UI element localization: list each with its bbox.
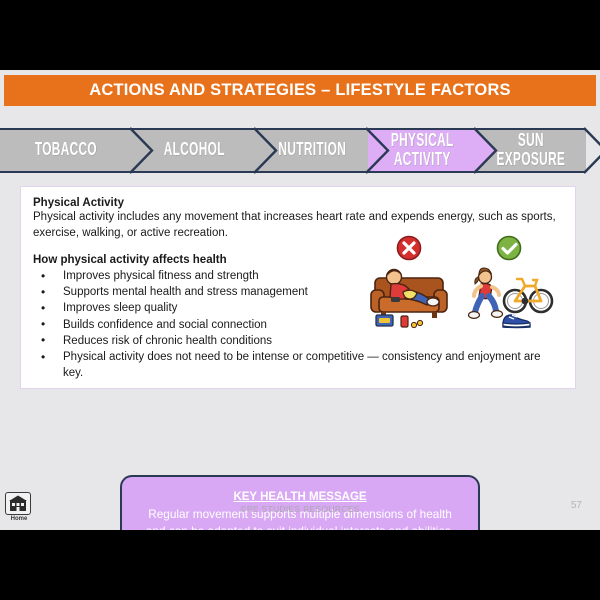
letterbox-bottom [0,530,600,600]
key-health-message-box: KEY HEALTH MESSAGE Regular movement supp… [120,475,480,530]
green-check-badge [498,237,521,260]
chevron-tip-icon [584,128,600,173]
key-message-line: and can be adapted to suit individual in… [146,523,454,531]
slide-title-bar: ACTIONS AND STRATEGIES – LIFESTYLE FACTO… [4,75,596,106]
page-title: ACTIONS AND STRATEGIES – LIFESTYLE FACTO… [89,81,511,100]
person-on-couch-illustration [361,235,457,331]
chevron-label-tobacco: TOBACCO [35,141,97,160]
lead-heading: Physical Activity [33,197,563,209]
slide-canvas: ACTIONS AND STRATEGIES – LIFESTYLE FACTO… [0,70,600,530]
bicycle-figure [504,279,552,312]
page-number: 57 [571,500,582,511]
home-label: Home [5,516,33,522]
running-shoes [503,314,530,328]
home-icon [5,492,31,515]
chevron-tip-icon [474,128,498,173]
runner-bicycle-shoes-illustration [461,235,557,331]
footer-copyright: ©PE STUDIES RESOURCES [0,504,600,514]
runner-figure [469,268,503,318]
chevron-label-sun-exposure: SUN EXPOSURE [497,131,566,169]
lifestyle-factor-chevron-nav: TOBACCO ALCOHOL NUTRITION PHYSICAL ACTIV… [0,128,600,173]
chevron-label-physical-activity: PHYSICAL ACTIVITY [391,131,454,169]
letterbox-top [0,0,600,70]
key-message-title: KEY HEALTH MESSAGE [233,491,366,503]
chevron-tip-icon [366,128,390,173]
list-item: Reduces risk of chronic health condition… [33,333,563,349]
red-cross-badge [398,237,421,260]
home-button[interactable]: Home [5,492,33,524]
chevron-label-alcohol: ALCOHOL [163,141,224,160]
illustration-pair [361,235,561,331]
list-item: Physical activity does not need to be in… [33,349,563,381]
chevron-tip-icon [254,128,278,173]
chevron-tip-icon [130,128,154,173]
chevron-item-tobacco[interactable]: TOBACCO [0,128,132,173]
content-card: Physical Activity Physical activity incl… [20,186,576,389]
chevron-label-nutrition: NUTRITION [278,141,346,160]
house-glyph-icon [8,495,28,512]
